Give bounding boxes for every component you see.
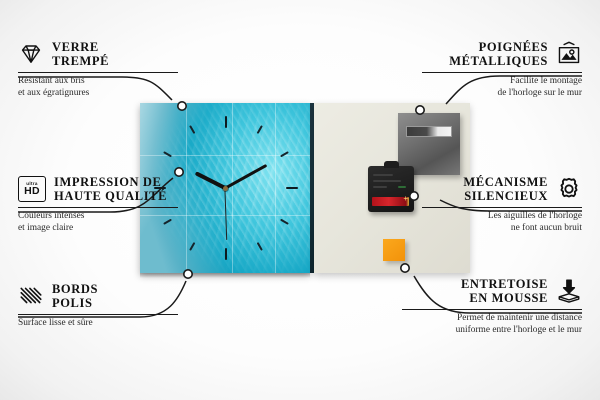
feature-rule [18, 314, 178, 315]
foam-spacer-icon [556, 278, 582, 304]
clock-mechanism [368, 166, 414, 212]
feature-rule [422, 72, 582, 73]
infographic-canvas: VERRE TREMPÉ Résistant aux bris et aux é… [0, 0, 600, 400]
feature-verre-trempe[interactable]: VERRE TREMPÉ Résistant aux bris et aux é… [18, 40, 178, 99]
handle-slot [406, 126, 452, 137]
feature-title-line2: SILENCIEUX [464, 189, 548, 203]
feature-poignees-metalliques[interactable]: POIGNÉES MÉTALLIQUES Facilite le montage… [422, 40, 582, 99]
feature-title-line1: VERRE [52, 40, 99, 54]
battery [372, 197, 409, 206]
feature-rule [18, 72, 178, 73]
feature-title-line1: MÉCANISME [463, 175, 548, 189]
ultra-hd-icon-main-text: HD [24, 186, 40, 197]
gear-icon [556, 176, 582, 202]
feature-title-line2: EN MOUSSE [469, 291, 548, 305]
clock-minute-hand [224, 164, 267, 189]
feature-description: Permet de maintenir une distance uniform… [402, 313, 582, 336]
feature-title-line1: ENTRETOISE [461, 277, 548, 291]
feature-description: Couleurs intenses et image claire [18, 211, 178, 234]
feature-title-line1: POIGNÉES [479, 40, 548, 54]
product-photo [140, 103, 470, 273]
feature-description: Les aiguilles de l'horloge ne font aucun… [422, 211, 582, 234]
ultra-hd-icon: ultra HD [18, 176, 46, 202]
polished-edges-icon [18, 283, 44, 309]
feature-title-line2: POLIS [52, 296, 93, 310]
picture-frame-icon [556, 41, 582, 67]
clock-hub [223, 186, 228, 191]
feature-title-line2: HAUTE QUALITÉ [54, 189, 167, 203]
feature-rule [402, 309, 582, 310]
feature-title-line2: MÉTALLIQUES [449, 54, 548, 68]
feature-entretoise-en-mousse[interactable]: ENTRETOISE EN MOUSSE Permet de maintenir… [402, 277, 582, 336]
feature-description: Surface lisse et sûre [18, 318, 178, 329]
feature-description: Facilite le montage de l'horloge sur le … [422, 76, 582, 99]
feature-bords-polis[interactable]: BORDS POLIS Surface lisse et sûre [18, 282, 178, 330]
feature-rule [422, 207, 582, 208]
foam-spacer [383, 239, 405, 261]
clock-second-hand [224, 188, 227, 240]
feature-title-line1: IMPRESSION DE [54, 175, 161, 189]
feature-impression-haute-qualite[interactable]: ultra HD IMPRESSION DE HAUTE QUALITÉ Cou… [18, 175, 178, 234]
feature-rule [18, 207, 178, 208]
feature-mecanisme-silencieux[interactable]: MÉCANISME SILENCIEUX Les aiguilles de l'… [422, 175, 582, 234]
feature-description: Résistant aux bris et aux égratignures [18, 76, 178, 99]
clock-hour-hand [195, 171, 226, 190]
feature-title-line1: BORDS [52, 282, 98, 296]
diamond-icon [18, 41, 44, 67]
feature-title-line2: TREMPÉ [52, 54, 109, 68]
